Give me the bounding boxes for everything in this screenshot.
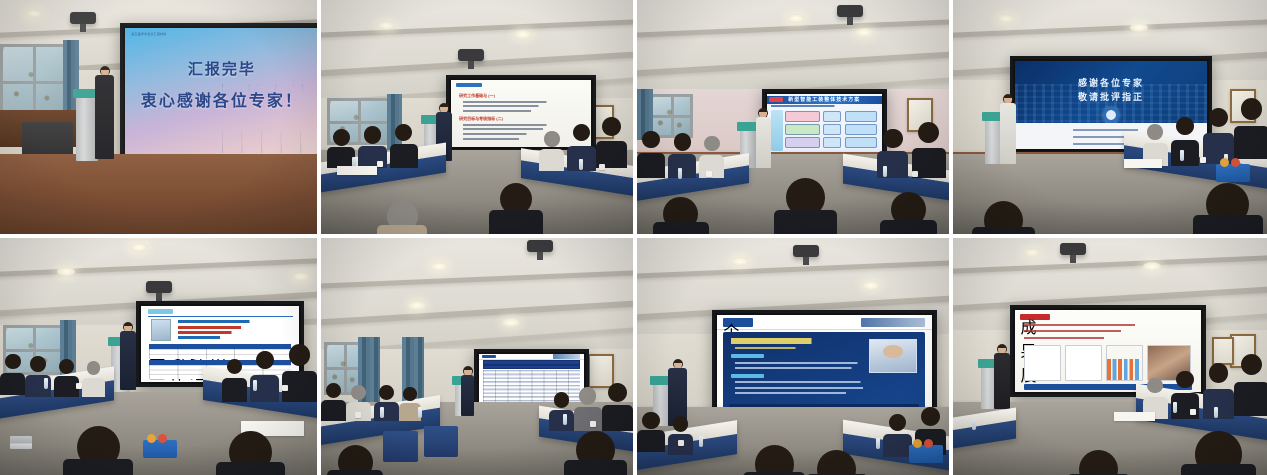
attendee-body bbox=[489, 210, 542, 234]
attendee-head bbox=[395, 124, 412, 141]
diagram-box bbox=[785, 137, 819, 148]
slide-info-line bbox=[178, 336, 265, 339]
attendee-body bbox=[216, 462, 286, 475]
attendee-head bbox=[642, 412, 659, 429]
attendee bbox=[222, 359, 247, 402]
slide-bullet bbox=[463, 105, 571, 107]
attendee-body bbox=[637, 430, 665, 452]
room-scene-1: 第五届学术会议汇报材料 汇报完毕 衷心感谢各位专家！ bbox=[0, 0, 317, 234]
photo-cell-7[interactable]: 个人简介 bbox=[637, 238, 949, 475]
attendee-foreground bbox=[1181, 431, 1257, 475]
presenter bbox=[461, 366, 473, 417]
water-bottle bbox=[876, 438, 880, 449]
photo-cell-5[interactable]: 学 习 经 历 工 作 经 历 bbox=[0, 238, 317, 475]
room-scene-2: 研究工作基础与 (一) 研究目标与考核指标 (二) bbox=[321, 0, 633, 234]
presenter bbox=[756, 108, 772, 169]
attendee-head bbox=[30, 356, 46, 372]
slide-text-line bbox=[1024, 337, 1145, 339]
slide-speaker-profile: 个人简介 bbox=[717, 315, 932, 421]
attendee-foreground bbox=[216, 431, 286, 475]
attendee-body bbox=[539, 149, 564, 170]
cup bbox=[355, 412, 361, 418]
slide-text-line bbox=[1024, 324, 1191, 326]
downlight bbox=[787, 14, 805, 23]
attendee-head bbox=[5, 354, 21, 370]
attendee-foreground bbox=[63, 426, 133, 475]
attendee bbox=[549, 392, 574, 431]
attendee bbox=[877, 129, 908, 178]
attendee-foreground bbox=[489, 183, 542, 234]
attendee-head bbox=[817, 450, 856, 475]
attendee-body bbox=[564, 460, 626, 475]
attendee-head bbox=[918, 122, 939, 143]
room-scene-8: 成果展示 bbox=[953, 238, 1267, 475]
attendee-foreground bbox=[774, 178, 836, 234]
presenter bbox=[120, 322, 136, 389]
water-bottle bbox=[972, 419, 976, 430]
attendee-body bbox=[321, 400, 346, 421]
slide-info-line bbox=[178, 320, 290, 323]
attendee-body bbox=[972, 227, 1035, 234]
slide-tag: 成果展示 bbox=[1020, 314, 1050, 321]
slide-badge bbox=[482, 355, 496, 358]
photo-cell-1[interactable]: 第五届学术会议汇报材料 汇报完毕 衷心感谢各位专家！ bbox=[0, 0, 317, 234]
attendee-head bbox=[1147, 124, 1163, 140]
presenter bbox=[1000, 94, 1016, 164]
attendee-body bbox=[877, 151, 908, 178]
slide-header: 第五届学术会议汇报材料 bbox=[131, 32, 166, 36]
attendee-head bbox=[364, 126, 381, 143]
attendee bbox=[82, 361, 104, 397]
attendee bbox=[390, 124, 418, 168]
diagram-box bbox=[845, 111, 877, 122]
slide-info-line bbox=[178, 331, 278, 334]
university-emblem-icon bbox=[1103, 107, 1119, 123]
fruit-box bbox=[1216, 164, 1250, 182]
attendee-body bbox=[1193, 215, 1263, 234]
attendee bbox=[912, 122, 946, 178]
figure-bar-chart bbox=[1106, 345, 1143, 381]
window-view bbox=[3, 47, 64, 116]
attendee-head bbox=[1209, 108, 1229, 128]
attendee-head bbox=[1079, 450, 1118, 475]
projector bbox=[70, 12, 96, 24]
water-bottle bbox=[678, 168, 682, 179]
attendee-head bbox=[403, 387, 417, 401]
attendee-head bbox=[87, 361, 101, 375]
slide-diagram: 新型智能工装整体技术方案 bbox=[767, 94, 882, 154]
room-scene-3: 新型智能工装整体技术方案 bbox=[637, 0, 949, 234]
attendee-head bbox=[326, 383, 341, 398]
attendee-body bbox=[699, 155, 724, 178]
projector bbox=[146, 281, 172, 293]
document bbox=[1114, 412, 1155, 422]
attendee-foreground bbox=[806, 450, 868, 475]
slide-lead-text bbox=[771, 105, 877, 107]
downlight bbox=[1023, 248, 1041, 257]
attendee bbox=[327, 129, 355, 169]
attendee-body bbox=[374, 402, 399, 422]
attendee-head bbox=[673, 416, 688, 431]
university-crest-icon bbox=[553, 354, 580, 358]
room-scene-7: 个人简介 bbox=[637, 238, 949, 475]
presenter-body bbox=[95, 75, 114, 160]
attendee bbox=[54, 359, 79, 398]
figure-waveform bbox=[1024, 345, 1061, 381]
room-scene-5: 学 习 经 历 工 作 经 历 bbox=[0, 238, 317, 475]
slide-tag bbox=[148, 309, 173, 314]
slide-subtitle-line bbox=[735, 347, 856, 349]
attendee bbox=[637, 412, 665, 453]
presenter-body bbox=[994, 353, 1010, 409]
attendee bbox=[0, 354, 25, 395]
attendee-head bbox=[1176, 117, 1194, 135]
diagram-box bbox=[823, 111, 841, 122]
attendee-head bbox=[289, 344, 311, 366]
attendee-body bbox=[574, 407, 602, 430]
attendee-body bbox=[602, 405, 633, 431]
slide-thanks: 第五届学术会议汇报材料 汇报完毕 衷心感谢各位专家！ bbox=[125, 28, 317, 161]
attendee-foreground bbox=[743, 445, 805, 475]
attendee-head bbox=[1241, 98, 1263, 120]
photo-cell-6[interactable] bbox=[321, 238, 633, 475]
water-bottle bbox=[380, 407, 384, 418]
slide-section-1 bbox=[731, 354, 763, 358]
diagram-box bbox=[845, 137, 877, 148]
projector bbox=[458, 49, 484, 61]
slide-bullet bbox=[735, 392, 888, 394]
cup bbox=[1190, 409, 1196, 415]
attendee-head bbox=[889, 414, 906, 431]
attendee-foreground bbox=[564, 431, 626, 475]
room-scene-4: 感谢各位专家 敬请批评指正 bbox=[953, 0, 1267, 234]
slide-bullet bbox=[463, 101, 582, 103]
photo-cell-2[interactable]: 研究工作基础与 (一) 研究目标与考核指标 (二) bbox=[321, 0, 633, 234]
presenter-body bbox=[756, 117, 772, 169]
slide-bullet bbox=[735, 381, 909, 383]
slide-text-line bbox=[1024, 330, 1171, 332]
attendee bbox=[668, 133, 696, 177]
attendee-foreground bbox=[1067, 450, 1130, 475]
attendee-head bbox=[642, 131, 659, 148]
attendee-head bbox=[1147, 378, 1163, 394]
slide-bullet bbox=[463, 124, 582, 126]
slide-divider bbox=[148, 316, 293, 317]
figure-waveform bbox=[1065, 345, 1102, 381]
downlight bbox=[57, 267, 75, 276]
attendee-foreground bbox=[653, 197, 709, 234]
cup bbox=[282, 385, 288, 391]
slide-table-header bbox=[483, 365, 580, 369]
attendee bbox=[321, 383, 346, 422]
university-crest-icon bbox=[861, 318, 925, 326]
attendee-head bbox=[227, 359, 243, 375]
downlight bbox=[1143, 262, 1161, 271]
laptop bbox=[10, 436, 32, 449]
slide-info-line bbox=[178, 326, 287, 329]
attendee-head bbox=[1176, 371, 1194, 389]
projector bbox=[837, 5, 863, 17]
slide-line-1: 汇报完毕 bbox=[125, 58, 317, 79]
attendee-body bbox=[63, 459, 133, 475]
slide-line-1: 感谢各位专家 bbox=[1015, 76, 1207, 89]
slide-name-line bbox=[731, 338, 860, 344]
document bbox=[337, 166, 378, 175]
slide-body bbox=[723, 332, 925, 411]
attendee bbox=[1234, 354, 1267, 417]
slide-tag: 个人简介 bbox=[723, 318, 753, 326]
attendee bbox=[25, 356, 50, 397]
water-bottle bbox=[579, 159, 583, 170]
attendee-foreground bbox=[880, 192, 936, 234]
chair bbox=[383, 431, 417, 462]
attendee-head bbox=[602, 117, 621, 136]
attendee bbox=[883, 414, 911, 457]
attendee-body bbox=[1203, 389, 1235, 419]
slide-table-header bbox=[483, 360, 580, 365]
slide-tag bbox=[456, 83, 481, 86]
attendee-head bbox=[1241, 354, 1263, 376]
attendee-head bbox=[1209, 363, 1229, 383]
attendee-body bbox=[637, 153, 665, 178]
attendee-head bbox=[333, 129, 350, 146]
cup bbox=[912, 171, 918, 177]
attendee-head bbox=[256, 351, 274, 369]
attendee-foreground bbox=[327, 445, 383, 475]
attendee bbox=[596, 117, 627, 168]
attendee-body bbox=[774, 210, 836, 234]
attendee bbox=[250, 351, 279, 402]
attendee-head bbox=[544, 131, 559, 146]
water-bottle bbox=[253, 380, 257, 391]
slide-heading-2: 研究目标与考核指标 (二) bbox=[459, 116, 503, 122]
led-screen-3: 新型智能工装整体技术方案 bbox=[762, 89, 887, 159]
attendee-head bbox=[674, 133, 691, 150]
downlight bbox=[408, 301, 426, 310]
attendee-body bbox=[222, 378, 247, 401]
photo-cell-8[interactable]: 成果展示 bbox=[953, 238, 1267, 475]
cup bbox=[706, 171, 712, 177]
attendee-foreground bbox=[377, 201, 427, 234]
photo-grid: 第五届学术会议汇报材料 汇报完毕 衷心感谢各位专家！ bbox=[0, 0, 1267, 475]
slide-line-2: 衷心感谢各位专家！ bbox=[125, 87, 317, 111]
attendee-head bbox=[704, 136, 719, 151]
attendee bbox=[602, 383, 633, 431]
diagram-box bbox=[823, 137, 841, 148]
attendee bbox=[1171, 117, 1199, 166]
attendee-body bbox=[549, 410, 574, 431]
attendee-body bbox=[390, 144, 418, 168]
water-bottle bbox=[563, 414, 567, 425]
id-photo bbox=[151, 319, 172, 340]
attendee bbox=[1234, 98, 1267, 159]
attendee-body bbox=[1234, 126, 1267, 159]
slide-bullet bbox=[735, 387, 913, 389]
cup bbox=[590, 421, 596, 427]
presenter bbox=[95, 66, 114, 160]
attendee-body bbox=[668, 154, 696, 178]
slide-bullet bbox=[735, 362, 904, 364]
downlight bbox=[292, 272, 310, 281]
attendee bbox=[699, 136, 724, 178]
attendee-body bbox=[1171, 140, 1199, 167]
attendee-head bbox=[379, 385, 394, 400]
attendee bbox=[1203, 108, 1235, 164]
attendee-head bbox=[59, 359, 75, 375]
attendee-body bbox=[377, 225, 427, 234]
projector bbox=[527, 240, 553, 252]
attendee bbox=[574, 387, 602, 430]
presenter-body bbox=[1000, 103, 1016, 164]
presenter-body bbox=[461, 375, 473, 417]
attendee-body bbox=[1181, 464, 1257, 475]
slide-footer-line bbox=[1073, 129, 1138, 131]
cup bbox=[599, 164, 605, 170]
attendee-body bbox=[0, 373, 25, 395]
attendee bbox=[539, 131, 564, 171]
water-bottle bbox=[883, 166, 887, 177]
presenter-body bbox=[120, 331, 136, 389]
downlight bbox=[130, 243, 148, 252]
attendee bbox=[374, 385, 399, 421]
chair bbox=[424, 426, 458, 457]
photo-cell-4[interactable]: 感谢各位专家 敬请批评指正 bbox=[953, 0, 1267, 234]
photo-cell-3[interactable]: 新型智能工装整体技术方案 bbox=[637, 0, 949, 234]
attendee-head bbox=[573, 124, 590, 141]
wall-plaque bbox=[1212, 337, 1234, 365]
room-scene-6 bbox=[321, 238, 633, 475]
attendee-foreground bbox=[972, 201, 1035, 234]
attendee-body bbox=[1234, 382, 1267, 416]
attendee bbox=[282, 344, 317, 402]
slide-title: 新型智能工装整体技术方案 bbox=[767, 96, 882, 103]
cup bbox=[377, 161, 383, 167]
diagram-box bbox=[845, 124, 877, 135]
attendee-body bbox=[327, 470, 383, 475]
diagram-column bbox=[771, 110, 782, 152]
attendee bbox=[1203, 363, 1235, 418]
water-bottle bbox=[418, 407, 422, 418]
document bbox=[1124, 159, 1162, 168]
diagram-box bbox=[785, 124, 819, 135]
attendee-body bbox=[653, 222, 709, 234]
projector bbox=[793, 245, 819, 257]
attendee-body bbox=[883, 434, 911, 457]
attendee-body bbox=[880, 220, 936, 234]
slide-tag bbox=[769, 97, 783, 102]
water-bottle bbox=[699, 436, 703, 447]
attendee-head bbox=[554, 392, 569, 407]
diagram-box bbox=[785, 111, 819, 122]
slide-heading-1: 研究工作基础与 (一) bbox=[459, 93, 495, 99]
water-bottle bbox=[1173, 402, 1177, 413]
water-bottle bbox=[1180, 150, 1184, 161]
floor bbox=[0, 154, 317, 234]
led-screen-1: 第五届学术会议汇报材料 汇报完毕 衷心感谢各位专家！ bbox=[120, 23, 317, 166]
water-bottle bbox=[44, 378, 48, 389]
window bbox=[0, 44, 67, 119]
attendee-head bbox=[351, 385, 366, 400]
fruit-box bbox=[909, 445, 943, 463]
cup bbox=[1200, 157, 1206, 163]
cup bbox=[76, 383, 82, 389]
attendee bbox=[668, 416, 693, 455]
fruit-box bbox=[143, 440, 177, 458]
attendee bbox=[637, 131, 665, 178]
downlight bbox=[502, 318, 520, 327]
attendee-head bbox=[755, 445, 794, 475]
slide-section-2 bbox=[731, 374, 763, 378]
slide-bullet bbox=[735, 367, 896, 369]
diagram-box bbox=[823, 124, 841, 135]
attendee-body bbox=[82, 378, 104, 398]
attendee-head bbox=[921, 407, 940, 426]
attendee-foreground bbox=[1193, 183, 1263, 234]
slide-bullet bbox=[463, 110, 559, 112]
projector bbox=[1060, 243, 1086, 255]
attendee-head bbox=[608, 383, 627, 402]
slide-line-2: 敬请批评指正 bbox=[1015, 90, 1207, 103]
window-view bbox=[652, 97, 690, 135]
attendee-head bbox=[579, 387, 596, 404]
water-bottle bbox=[1214, 407, 1218, 418]
attendee-head bbox=[883, 129, 902, 148]
cup bbox=[678, 440, 684, 446]
presenter bbox=[994, 344, 1010, 409]
slide-bullet bbox=[463, 138, 543, 140]
attendee-body bbox=[1203, 133, 1235, 163]
slide-bullet bbox=[463, 128, 576, 130]
